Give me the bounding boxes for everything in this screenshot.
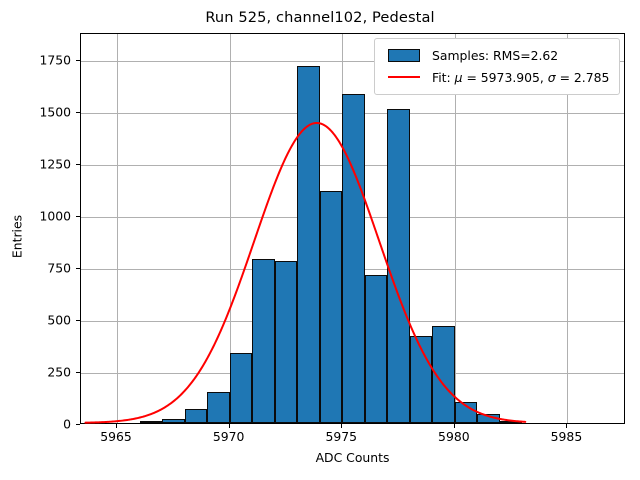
x-tick-mark (229, 424, 230, 428)
legend-fit-mu-value: = 5973.905, (463, 70, 548, 85)
legend-fit-prefix: Fit: (432, 70, 455, 85)
legend-entry-samples: Samples: RMS=2.62 (382, 44, 612, 66)
x-tick-mark (116, 424, 117, 428)
x-tick-mark (341, 424, 342, 428)
x-tick-label: 5980 (438, 429, 470, 444)
chart-title: Run 525, channel102, Pedestal (0, 9, 640, 26)
y-axis-label: Entries (10, 157, 25, 317)
matplotlib-figure: Run 525, channel102, Pedestal 5965597059… (0, 0, 640, 480)
y-tick-label: 1500 (0, 105, 71, 120)
x-tick-label: 5985 (551, 429, 583, 444)
legend-fit-sigma-symbol: σ (548, 70, 556, 85)
y-tick-mark (76, 164, 80, 165)
x-tick-label: 5970 (213, 429, 245, 444)
y-tick-mark (76, 424, 80, 425)
x-tick-mark (454, 424, 455, 428)
y-tick-label: 0 (0, 417, 71, 432)
legend-label-samples: Samples: RMS=2.62 (426, 48, 558, 63)
y-tick-label: 1750 (0, 53, 71, 68)
legend-entry-fit: Fit: μ = 5973.905, σ = 2.785 (382, 66, 612, 88)
y-tick-mark (76, 112, 80, 113)
x-tick-mark (566, 424, 567, 428)
x-tick-label: 5975 (325, 429, 357, 444)
gaussian-fit-curve (85, 123, 525, 423)
y-tick-mark (76, 372, 80, 373)
y-tick-mark (76, 320, 80, 321)
y-tick-mark (76, 216, 80, 217)
x-tick-label: 5965 (100, 429, 132, 444)
line-segment-icon (382, 66, 426, 88)
legend-fit-sigma-value: = 2.785 (556, 70, 610, 85)
y-tick-mark (76, 60, 80, 61)
legend-fit-mu-symbol: μ (455, 70, 463, 85)
legend-label-fit: Fit: μ = 5973.905, σ = 2.785 (426, 70, 609, 85)
x-axis-label: ADC Counts (80, 450, 625, 465)
y-tick-mark (76, 268, 80, 269)
y-tick-label: 250 (0, 365, 71, 380)
legend: Samples: RMS=2.62 Fit: μ = 5973.905, σ =… (374, 38, 620, 95)
bar-patch-icon (382, 44, 426, 66)
